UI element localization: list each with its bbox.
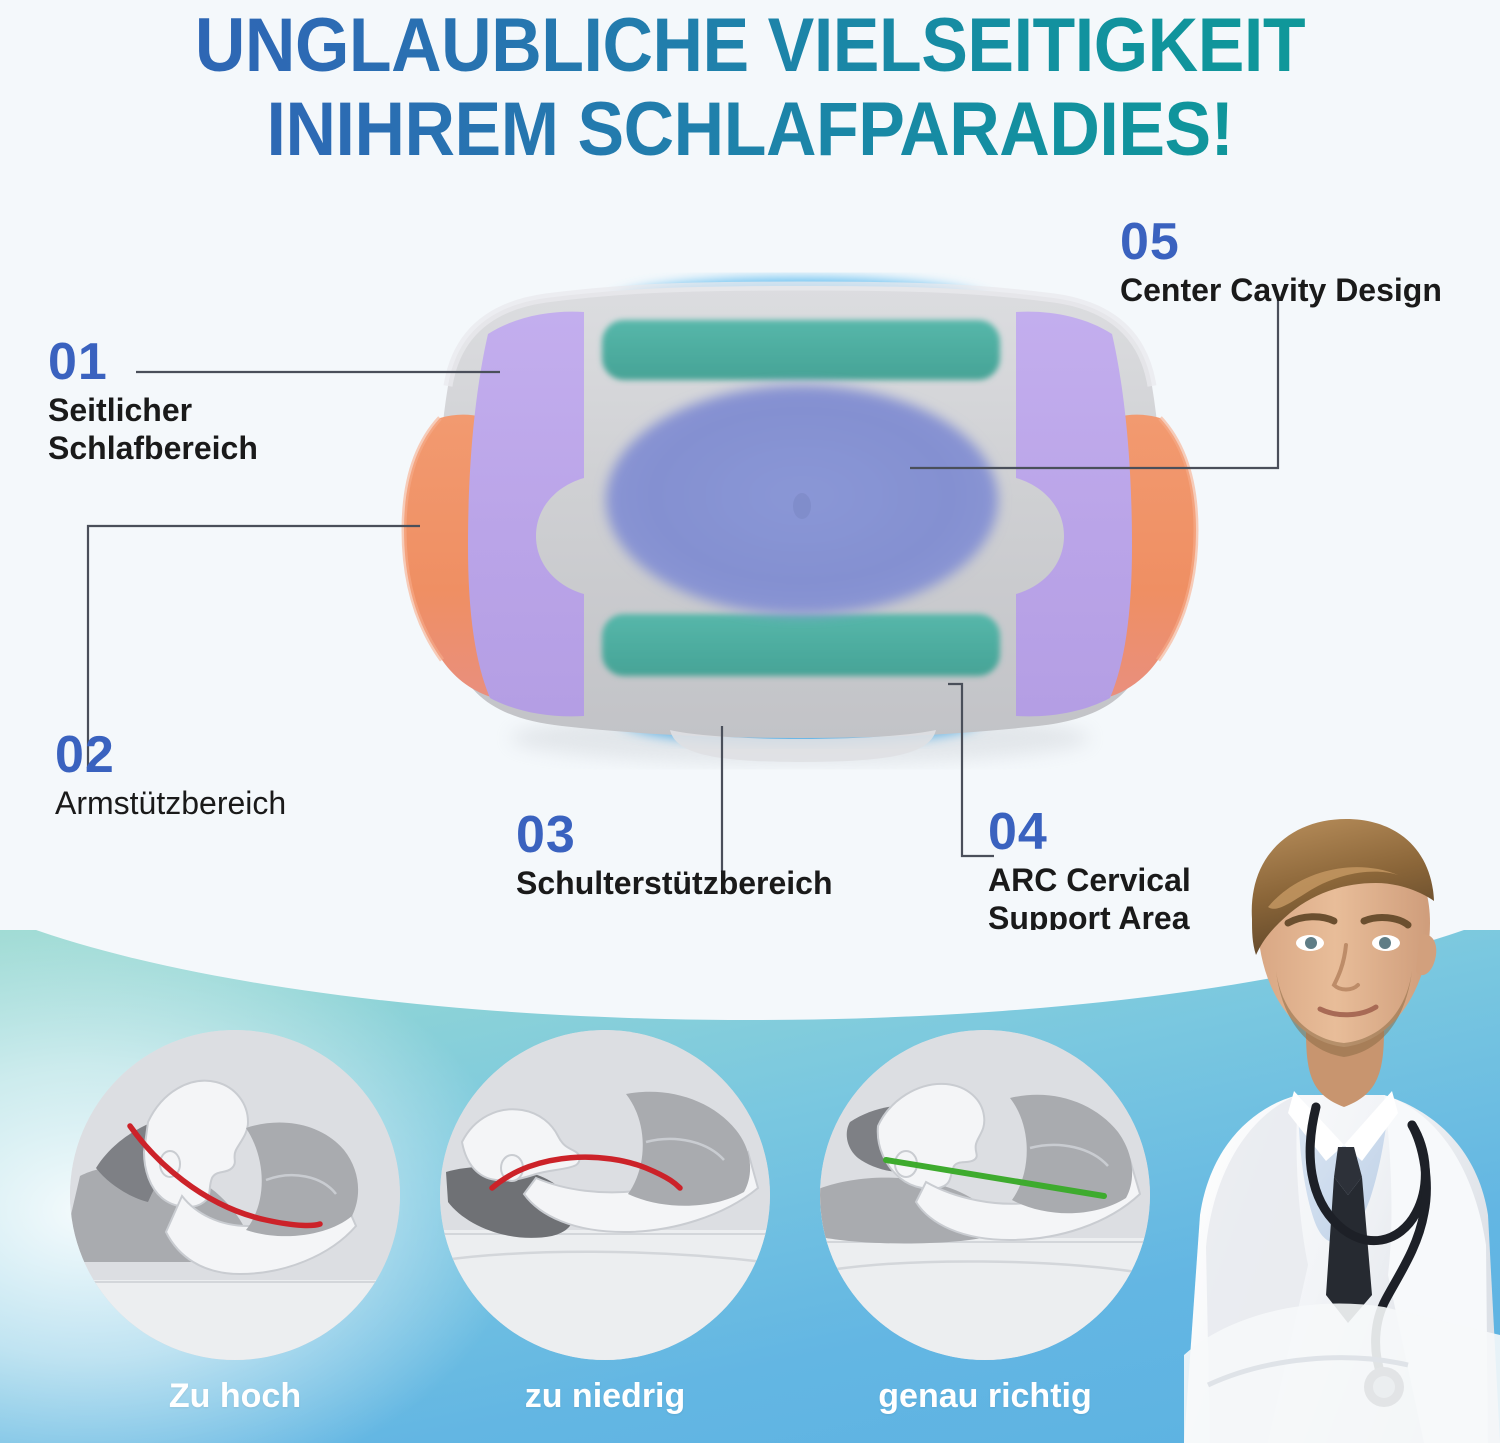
- comparison-card-too-high: Zu hoch: [55, 1030, 415, 1416]
- page-headline: UNGLAUBLICHE VIELSEITIGKEIT INIHREM SCHL…: [0, 0, 1500, 172]
- callout-02: 02 Armstützbereich: [55, 728, 286, 822]
- callout-03-caption: Schulterstützbereich: [516, 864, 833, 902]
- pillow-product-image: [370, 268, 1230, 778]
- pillow-illustration: [370, 268, 1230, 778]
- callout-01-caption: Seitlicher Schlafbereich: [48, 391, 258, 467]
- comparison-illustration-just-right: [820, 1030, 1150, 1360]
- callout-01: 01 Seitlicher Schlafbereich: [48, 335, 258, 467]
- headline-line-1: UNGLAUBLICHE VIELSEITIGKEIT: [60, 4, 1440, 88]
- cervical-support-bar: [602, 320, 1000, 380]
- comparison-caption-too-high: Zu hoch: [55, 1376, 415, 1416]
- comparison-illustration-too-low: [440, 1030, 770, 1360]
- doctor-photo: [1148, 795, 1500, 1443]
- shoulder-support-bar: [602, 614, 1000, 676]
- callout-05-number: 05: [1120, 215, 1442, 269]
- callout-02-number: 02: [55, 728, 286, 782]
- headline-line-2: INIHREM SCHLAFPARADIES!: [60, 88, 1440, 172]
- callout-02-caption: Armstützbereich: [55, 784, 286, 822]
- callout-03-number: 03: [516, 808, 833, 862]
- comparison-card-too-low: zu niedrig: [425, 1030, 785, 1416]
- callout-05: 05 Center Cavity Design: [1120, 215, 1442, 309]
- callout-03: 03 Schulterstützbereich: [516, 808, 833, 902]
- callout-05-caption: Center Cavity Design: [1120, 271, 1442, 309]
- comparison-caption-just-right: genau richtig: [805, 1376, 1165, 1416]
- comparison-illustration-too-high: [70, 1030, 400, 1360]
- callout-01-number: 01: [48, 335, 258, 389]
- comparison-caption-too-low: zu niedrig: [425, 1376, 785, 1416]
- comparison-card-just-right: genau richtig: [805, 1030, 1165, 1416]
